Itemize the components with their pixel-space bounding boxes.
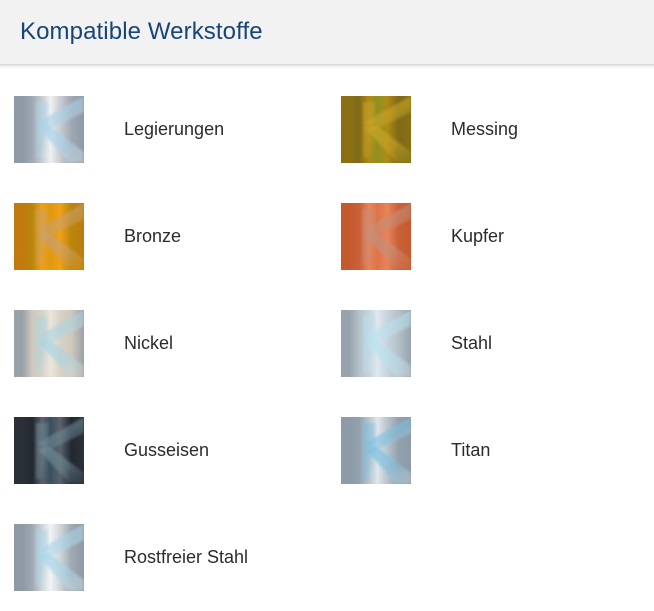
- material-swatch-titan: [341, 417, 411, 484]
- material-swatch-gusseisen: [14, 417, 84, 484]
- material-label: Bronze: [124, 226, 181, 248]
- material-list-item[interactable]: Stahl: [327, 290, 654, 397]
- page-title: Kompatible Werkstoffe: [20, 20, 263, 44]
- material-list-item[interactable]: Titan: [327, 397, 654, 504]
- material-swatch-kupfer: [341, 203, 411, 270]
- material-swatch-legierungen: [14, 96, 84, 163]
- compatible-materials-grid: LegierungenMessingBronzeKupferNickelStah…: [0, 70, 654, 611]
- material-list-item[interactable]: Bronze: [0, 183, 327, 290]
- material-label: Stahl: [451, 333, 492, 355]
- material-list-item[interactable]: Kupfer: [327, 183, 654, 290]
- material-list-item[interactable]: Gusseisen: [0, 397, 327, 504]
- material-label: Kupfer: [451, 226, 504, 248]
- material-label: Titan: [451, 440, 490, 462]
- material-list-item[interactable]: Nickel: [0, 290, 327, 397]
- material-label: Nickel: [124, 333, 173, 355]
- material-list-item[interactable]: Messing: [327, 76, 654, 183]
- material-swatch-nickel: [14, 310, 84, 377]
- material-swatch-bronze: [14, 203, 84, 270]
- material-list-item[interactable]: Legierungen: [0, 76, 327, 183]
- material-list-item[interactable]: Rostfreier Stahl: [0, 504, 327, 611]
- material-label: Legierungen: [124, 119, 224, 141]
- material-label: Gusseisen: [124, 440, 209, 462]
- material-label: Messing: [451, 119, 518, 141]
- material-swatch-messing: [341, 96, 411, 163]
- app-header: Kompatible Werkstoffe: [0, 0, 654, 64]
- material-swatch-stahl: [341, 310, 411, 377]
- material-label: Rostfreier Stahl: [124, 547, 248, 569]
- material-swatch-rostfreier-stahl: [14, 524, 84, 591]
